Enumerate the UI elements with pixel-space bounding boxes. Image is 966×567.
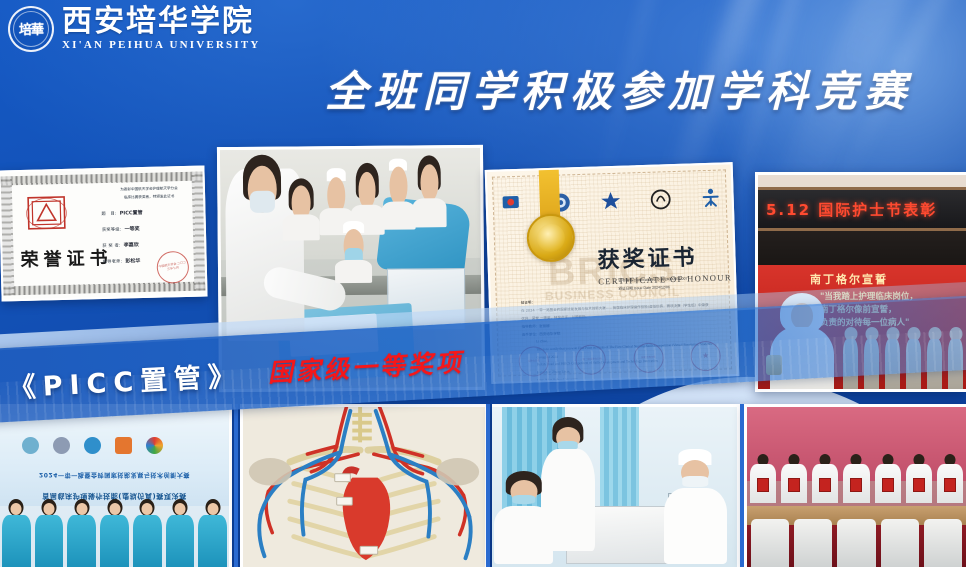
university-name-en: XI'AN PEIHUA UNIVERSITY — [62, 40, 261, 51]
ward-practice-photo — [492, 404, 740, 567]
awardee-figure — [872, 452, 903, 503]
awardee-figure — [778, 452, 809, 503]
chair — [881, 519, 919, 567]
led-banner-text: 5.12 国际护士节表彰 — [766, 199, 937, 220]
chair-row — [747, 500, 966, 567]
figure-emblem-icon — [699, 187, 722, 210]
nurse-figure — [494, 471, 553, 564]
award-ceremony-photo — [744, 404, 966, 567]
sponsor-logo-icon — [53, 437, 70, 454]
sponsor-logo-icon — [22, 437, 39, 454]
awardee-figure — [841, 452, 872, 503]
banner-line-1: 2024一带一路暨金砖国家技能发展与技术创新大赛 — [0, 471, 229, 480]
student-figure — [0, 497, 33, 567]
anatomy-illustration — [243, 407, 485, 567]
sponsor-logo-icon — [146, 437, 163, 454]
photo-divider — [234, 404, 238, 567]
university-logo: 培華 西安培华学院 XI'AN PEIHUA UNIVERSITY — [8, 6, 261, 52]
seal-glyphs: 培華 — [19, 23, 43, 36]
certificate-title: 荣誉证书 — [20, 244, 113, 272]
honor-certificate: 为表彰中国航天学会护理航天学分会 临床比赛获奖者，特颁发此证书 荣誉证书 题 目… — [0, 166, 208, 302]
star-emblem-icon — [599, 190, 622, 213]
photo-divider — [740, 404, 744, 567]
red-society-emblem-icon — [23, 193, 70, 234]
student-figure — [164, 497, 197, 567]
student-figure — [131, 497, 164, 567]
instructor-head — [236, 154, 289, 236]
awardee-row — [747, 452, 966, 503]
certificate-header-text: 为表彰中国航天学会护理航天学分会 临床比赛获奖者，特颁发此证书 — [103, 185, 195, 202]
student-figure — [33, 497, 66, 567]
student-figure-masked — [335, 221, 372, 283]
student-row — [0, 497, 229, 567]
anatomy-chart-photo — [240, 404, 488, 567]
certificate-field-row: 题 目: PICC置管 — [101, 210, 197, 217]
chair — [794, 519, 832, 567]
student-figure — [65, 497, 98, 567]
page-title: 全班同学积极参加学科竞赛 — [325, 58, 913, 119]
student-figure — [412, 155, 446, 227]
brics-logo-icon — [499, 193, 522, 216]
award-label: 国家级一等奖项 — [267, 343, 465, 390]
circle-emblem-icon — [649, 188, 672, 211]
chair — [924, 519, 962, 567]
awardee-figure — [747, 452, 778, 503]
awardee-figure — [810, 452, 841, 503]
presentation-slide: 培華 西安培华学院 XI'AN PEIHUA UNIVERSITY 全班同学积极… — [0, 0, 966, 567]
chair — [837, 519, 875, 567]
certificate-field-row: 获 奖 者: 李嘉欣 — [102, 242, 198, 249]
certificate-meta: 证书编号 Certificate No. 0-2024000932/007 颁证… — [618, 275, 722, 294]
backdrop-title: 南丁格尔宣誓 — [810, 271, 960, 287]
student-figure — [381, 158, 415, 230]
chair — [751, 519, 789, 567]
nurse-figure-capped — [664, 449, 728, 564]
student-group-photo: 2024一带一路暨金砖国家技能发展与技术创新大赛 首届临床护理操作技能(虚拟仿真… — [0, 404, 232, 567]
led-banner: 5.12 国际护士节表彰 — [758, 187, 966, 231]
certificate-title-cn: 获奖证书 — [597, 238, 732, 274]
photo-divider — [486, 404, 490, 567]
student-figure — [283, 178, 320, 240]
certificate-field-row: 获奖等级: 一等奖 — [102, 226, 198, 233]
sponsor-logo-icon — [84, 437, 101, 454]
medal-ribbon — [539, 168, 561, 221]
awardee-figure — [935, 452, 966, 503]
banner-logo-row — [22, 437, 163, 454]
student-figure — [196, 497, 229, 567]
project-title: 《PICC置管》 — [8, 353, 243, 405]
university-seal-icon: 培華 — [8, 6, 54, 52]
university-name-cn: 西安培华学院 — [62, 7, 261, 37]
sponsor-logo-icon — [115, 437, 132, 454]
awardee-figure — [903, 452, 934, 503]
student-figure — [98, 497, 131, 567]
